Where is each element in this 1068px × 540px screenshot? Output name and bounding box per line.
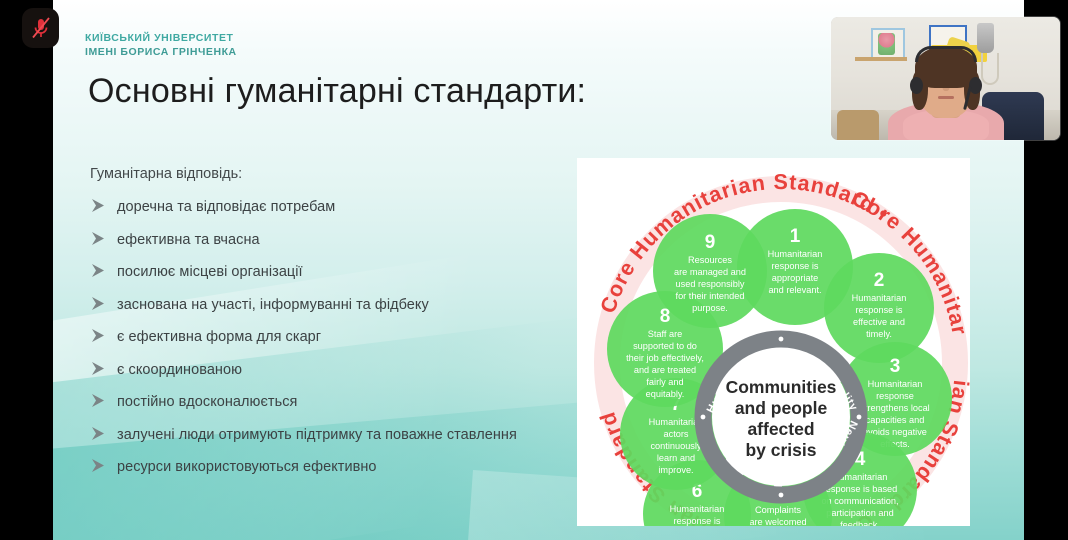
svg-text:response is: response is [674,516,721,526]
university-logo-line2: ІМЕНІ БОРИСА ГРІНЧЕНКА [85,45,237,59]
svg-text:for their intended: for their intended [676,291,745,301]
list-item-label: ефективна та вчасна [117,231,260,248]
svg-text:Humanitarian: Humanitarian [768,249,823,259]
list-item-label: заснована на участі, інформуванні та фід… [117,296,429,313]
svg-text:by crisis: by crisis [745,440,816,460]
svg-text:Staff are: Staff are [648,329,683,339]
list-item: ресурси використовуються ефективно [90,458,610,475]
svg-text:response is: response is [856,305,903,315]
university-logo-line1: КИЇВСЬКИЙ УНІВЕРСИТЕТ [85,31,237,45]
svg-text:affected: affected [747,419,814,439]
participant-video-tile[interactable] [831,17,1060,140]
list-item: посилює місцеві організації [90,263,610,280]
university-logo: КИЇВСЬКИЙ УНІВЕРСИТЕТ ІМЕНІ БОРИСА ГРІНЧ… [85,31,237,60]
list-item: є скоординованою [90,361,610,378]
svg-text:on communication,: on communication, [821,496,898,506]
headphone-band [915,46,977,62]
wall-shelf [855,57,907,61]
wooden-chair [837,110,879,140]
shelf-plant [878,33,895,55]
svg-text:improve.: improve. [658,465,693,475]
list-item-label: є скоординованою [117,361,242,378]
svg-text:2: 2 [874,270,885,291]
list-item-label: є ефективна форма для скарг [117,328,321,345]
svg-text:response is based: response is based [823,484,898,494]
svg-text:used responsibly: used responsibly [676,279,745,289]
svg-text:feedback.: feedback. [840,520,880,526]
svg-text:and people: and people [735,398,828,418]
list-item-label: ресурси використовуються ефективно [117,458,377,475]
hanging-cord [981,53,999,85]
svg-text:Resources: Resources [688,255,732,265]
bullet-list: доречна та відповідає потребам ефективна… [90,198,610,491]
list-item: є ефективна форма для скарг [90,328,610,345]
svg-text:continuously: continuously [650,441,701,451]
headphone-cup-left [910,77,923,94]
arrow-bullet-icon [90,197,107,214]
arrow-bullet-icon [90,262,107,279]
hanging-bag [977,23,994,53]
svg-text:supported to do: supported to do [633,341,697,351]
list-item: залучені люди отримують підтримку та пов… [90,426,610,443]
list-item: ефективна та вчасна [90,231,610,248]
svg-text:response: response [876,391,914,401]
svg-text:9: 9 [705,232,716,253]
arrow-bullet-icon [90,360,107,377]
person-mouth [938,96,954,99]
svg-text:effective and: effective and [853,317,905,327]
svg-text:3: 3 [890,356,901,377]
avatar [831,17,1060,140]
svg-text:1: 1 [790,226,801,247]
svg-text:their job effectively,: their job effectively, [626,353,704,363]
svg-text:Humanitarian: Humanitarian [670,504,725,514]
arrow-bullet-icon [90,457,107,474]
svg-text:and are treated: and are treated [634,365,696,375]
chs-diagram-image: Core Humanitarian Standard • Core Humani… [577,158,970,526]
svg-text:response is: response is [772,261,819,271]
svg-text:Humanitarian: Humanitarian [868,379,923,389]
list-item-label: постійно вдосконалюється [117,393,297,410]
lead-text: Гуманітарна відповідь: [90,166,242,182]
svg-text:fairly and: fairly and [646,377,683,387]
list-item: постійно вдосконалюється [90,393,610,410]
svg-text:equitably.: equitably. [646,389,685,399]
svg-text:timely.: timely. [866,329,892,339]
arrow-bullet-icon [90,230,107,247]
commitment-bubble-9: 9 Resources are managed and used respons… [653,214,767,328]
svg-text:Humanitarian: Humanitarian [852,293,907,303]
svg-text:participation and: participation and [826,508,893,518]
list-item-label: доречна та відповідає потребам [117,198,335,215]
svg-text:Complaints: Complaints [755,505,801,515]
svg-text:Communities: Communities [726,377,837,397]
svg-text:learn and: learn and [657,453,695,463]
arrow-bullet-icon [90,327,107,344]
list-item-label: посилює місцеві організації [117,263,303,280]
svg-text:strengthens local: strengthens local [860,403,929,413]
svg-text:appropriate: appropriate [772,273,818,283]
svg-text:capacities and: capacities and [866,415,925,425]
svg-text:are managed and: are managed and [674,267,746,277]
svg-text:actors: actors [663,429,688,439]
arrow-bullet-icon [90,392,107,409]
list-item-label: залучені люди отримують підтримку та пов… [117,426,517,443]
arrow-bullet-icon [90,295,107,312]
arrow-bullet-icon [90,425,107,442]
microphone-muted-icon[interactable] [22,8,59,48]
list-item: доречна та відповідає потребам [90,198,610,215]
list-item: заснована на участі, інформуванні та фід… [90,296,610,313]
page-title: Основні гуманітарні стандарти: [88,72,586,111]
svg-text:are welcomed: are welcomed [749,517,806,526]
svg-text:and relevant.: and relevant. [768,285,821,295]
screen: КИЇВСЬКИЙ УНІВЕРСИТЕТ ІМЕНІ БОРИСА ГРІНЧ… [0,0,1068,540]
svg-text:purpose.: purpose. [692,303,728,313]
